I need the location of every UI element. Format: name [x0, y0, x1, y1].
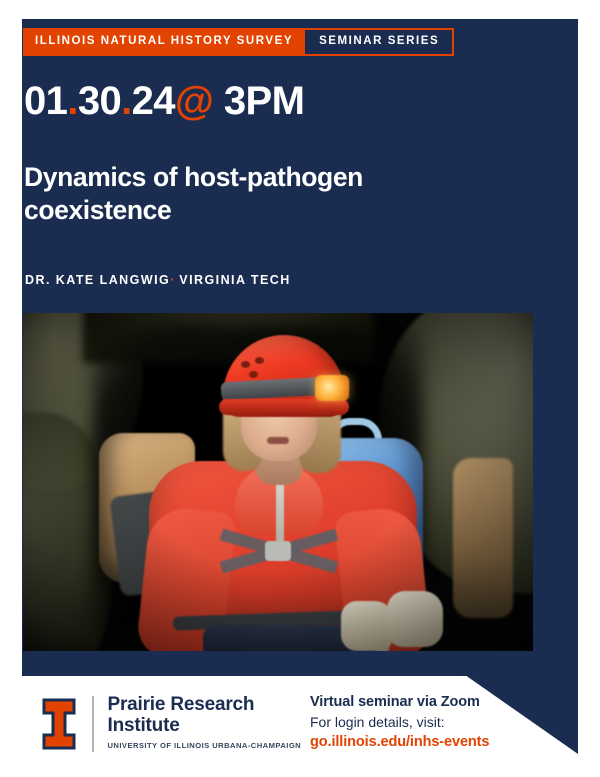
helmet-vent-c-icon [249, 371, 258, 378]
shoulder-pack-right-icon [453, 458, 513, 618]
series-badge: ILLINOIS NATURAL HISTORY SURVEY SEMINAR … [23, 28, 454, 56]
badge-series-label: SEMINAR SERIES [319, 36, 439, 48]
speaker-separator-dot: · [170, 273, 174, 287]
speaker-line: DR. KATE LANGWIG· VIRGINIA TECH [25, 274, 291, 287]
cave-scene [23, 313, 533, 651]
seminar-poster: ILLINOIS NATURAL HISTORY SURVEY SEMINAR … [0, 0, 600, 777]
date-dot-1: . [67, 79, 78, 123]
event-date-year: 24 [132, 79, 175, 123]
zoom-detail: For login details, visit: [310, 713, 560, 733]
glove-right-icon [387, 591, 443, 647]
poster-footer: Prairie Research Institute UNIVERSITY OF… [0, 676, 600, 777]
badge-organization-label: ILLINOIS NATURAL HISTORY SURVEY [35, 36, 293, 48]
date-dot-2: . [121, 79, 132, 123]
mouth-icon [267, 437, 289, 444]
prairie-research-institute-logo: Prairie Research Institute UNIVERSITY OF… [42, 693, 301, 752]
helmet-vent-a-icon [241, 361, 250, 368]
harness-buckle-icon [265, 541, 291, 561]
logo-line-1: Prairie Research [108, 694, 302, 715]
logo-divider [92, 696, 94, 752]
event-datetime: 01.30.24@ 3PM [24, 81, 304, 121]
logo-wordmark: Prairie Research Institute UNIVERSITY OF… [108, 693, 302, 750]
glove-left-icon [341, 601, 393, 651]
caver-figure [23, 313, 533, 651]
speaker-affiliation: VIRGINIA TECH [179, 273, 290, 287]
logo-university-line: UNIVERSITY OF ILLINOIS URBANA-CHAMPAIGN [108, 741, 302, 750]
logo-line-2: Institute [108, 715, 302, 736]
event-date-day: 30 [78, 79, 121, 123]
event-time: 3PM [224, 79, 304, 123]
block-i-icon [42, 698, 76, 750]
speaker-photo [23, 313, 533, 651]
seminar-title: Dynamics of host-pathogen coexistence [24, 161, 484, 227]
helmet-brim-icon [219, 399, 349, 415]
zoom-info-block: Virtual seminar via Zoom For login detai… [310, 693, 560, 752]
helmet-vent-b-icon [255, 357, 264, 364]
headlamp-icon [315, 375, 349, 401]
zoom-heading: Virtual seminar via Zoom [310, 693, 560, 713]
speaker-name: DR. KATE LANGWIG [25, 273, 170, 287]
badge-series: SEMINAR SERIES [303, 28, 454, 56]
badge-organization: ILLINOIS NATURAL HISTORY SURVEY [23, 28, 304, 56]
event-url-link[interactable]: go.illinois.edu/inhs-events [310, 732, 489, 752]
event-date-month: 01 [24, 79, 67, 123]
at-symbol-icon: @ [175, 79, 213, 123]
